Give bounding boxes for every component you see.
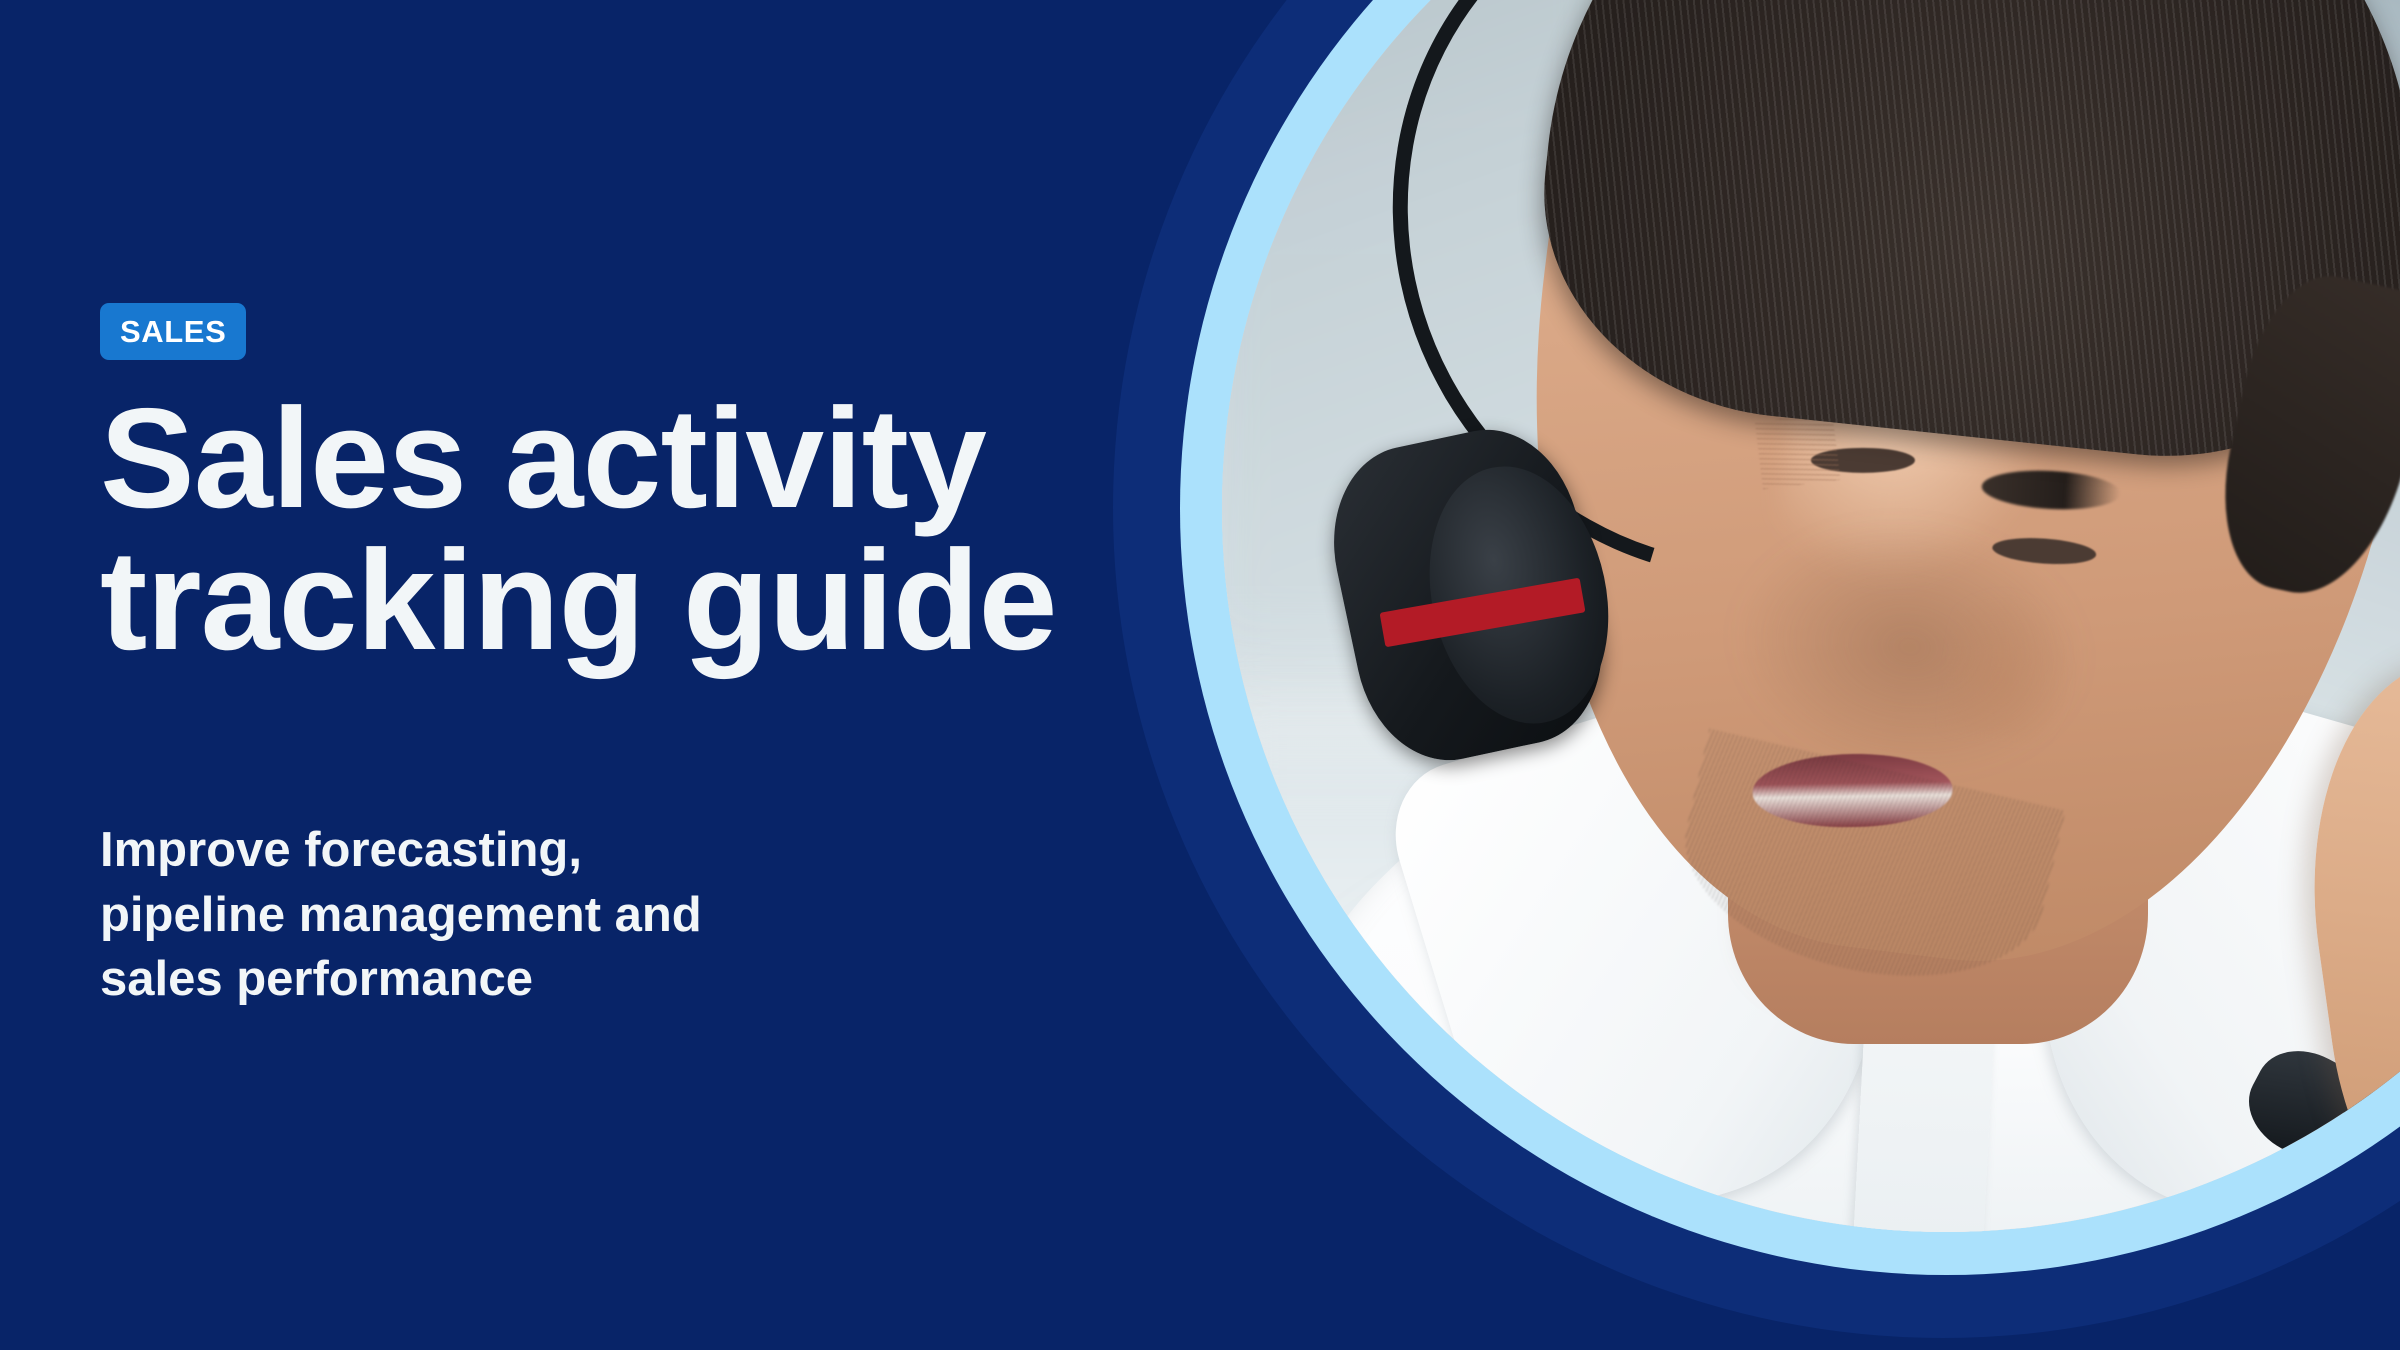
nose [1943, 585, 2082, 745]
hero-photo [1222, 0, 2400, 1232]
category-badge: SALES [100, 303, 246, 360]
banner-content: SALES Sales activity tracking guide Impr… [100, 0, 1100, 1350]
page-subtitle: Improve forecasting, pipeline management… [100, 818, 720, 1012]
hero-photo-circle [1222, 0, 2400, 1232]
page-title: Sales activity tracking guide [100, 388, 1060, 672]
marketing-banner: SALES Sales activity tracking guide Impr… [0, 0, 2400, 1350]
